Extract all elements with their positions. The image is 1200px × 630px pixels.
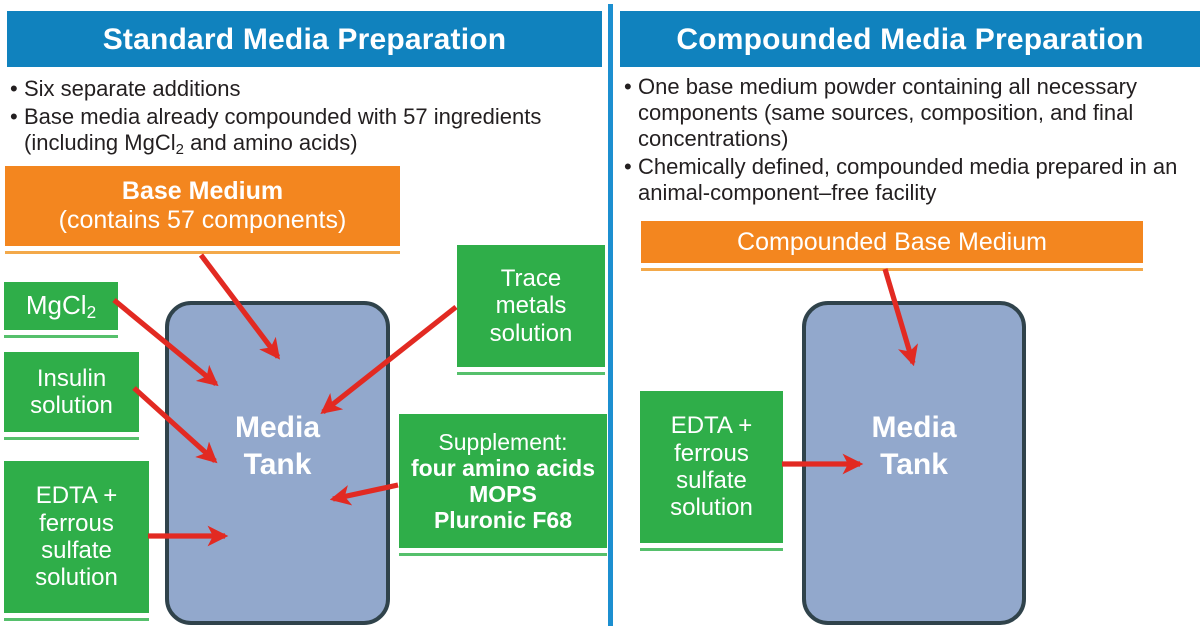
left-media-tank-line-1: Media bbox=[235, 410, 320, 447]
left-input-supplement-box: Supplement: four amino acids MOPS Pluron… bbox=[399, 414, 607, 548]
left-media-tank-line-2: Tank bbox=[235, 447, 320, 484]
left-base-medium-underline bbox=[5, 251, 400, 254]
left-input-mgcl2-underline bbox=[4, 335, 118, 338]
right-base-medium-underline bbox=[641, 268, 1143, 271]
left-input-supplement-line-1: Supplement: bbox=[438, 429, 567, 455]
right-base-medium-box: Compounded Base Medium bbox=[641, 221, 1143, 263]
list-item-label: Chemically defined, compounded media pre… bbox=[638, 154, 1184, 206]
subscript-2: 2 bbox=[87, 302, 97, 322]
left-input-edta-line-4: solution bbox=[35, 564, 118, 591]
list-item: • Chemically defined, compounded media p… bbox=[624, 154, 1184, 206]
left-input-edta-line-3: sulfate bbox=[41, 537, 112, 564]
list-item-label-post: and amino acids) bbox=[184, 130, 358, 155]
media-preparation-comparison-figure: Standard Media Preparation • Six separat… bbox=[0, 0, 1200, 630]
bullet-icon: • bbox=[10, 76, 24, 102]
left-input-supplement-line-2: four amino acids bbox=[411, 455, 595, 481]
left-input-edta-line-1: EDTA + bbox=[36, 482, 118, 509]
right-media-tank: Media Tank bbox=[802, 301, 1026, 625]
list-item-label: Base media already compounded with 57 in… bbox=[24, 104, 590, 156]
left-input-insulin-line-2: solution bbox=[30, 392, 113, 419]
list-item: • Base media already compounded with 57 … bbox=[10, 104, 590, 156]
left-input-edta-box: EDTA + ferrous sulfate solution bbox=[4, 461, 149, 613]
left-input-trace-metals-line-3: solution bbox=[490, 320, 573, 347]
right-panel-header-label: Compounded Media Preparation bbox=[676, 23, 1143, 56]
right-media-tank-line-2: Tank bbox=[871, 447, 956, 484]
left-input-mgcl2-box: MgCl2 bbox=[4, 282, 118, 330]
subscript-2: 2 bbox=[176, 141, 184, 158]
list-item-label: One base medium powder containing all ne… bbox=[638, 74, 1184, 152]
left-base-medium-title: Base Medium bbox=[122, 177, 283, 206]
left-input-supplement-underline bbox=[399, 553, 607, 556]
right-media-tank-label: Media Tank bbox=[871, 410, 956, 483]
left-input-supplement-line-3: MOPS bbox=[469, 481, 537, 507]
left-input-supplement-line-4: Pluronic F68 bbox=[434, 507, 572, 533]
list-item: • Six separate additions bbox=[10, 76, 590, 102]
left-input-insulin-underline bbox=[4, 437, 139, 440]
left-panel-bullet-list: • Six separate additions • Base media al… bbox=[10, 76, 590, 158]
right-input-edta-line-4: solution bbox=[670, 494, 753, 521]
left-media-tank: Media Tank bbox=[165, 301, 390, 625]
bullet-icon: • bbox=[624, 154, 638, 180]
left-panel-header: Standard Media Preparation bbox=[7, 11, 602, 67]
panel-divider bbox=[608, 4, 613, 626]
list-item-label: Six separate additions bbox=[24, 76, 590, 102]
left-input-edta-underline bbox=[4, 618, 149, 621]
left-input-trace-metals-underline bbox=[457, 372, 605, 375]
bullet-icon: • bbox=[624, 74, 638, 100]
left-panel-header-label: Standard Media Preparation bbox=[103, 23, 507, 56]
right-input-edta-line-1: EDTA + bbox=[671, 412, 753, 439]
right-panel-header: Compounded Media Preparation bbox=[620, 11, 1200, 67]
left-input-trace-metals-box: Trace metals solution bbox=[457, 245, 605, 367]
left-input-mgcl2-label-text: MgCl bbox=[26, 290, 87, 320]
right-input-edta-box: EDTA + ferrous sulfate solution bbox=[640, 391, 783, 543]
right-input-edta-line-3: sulfate bbox=[676, 467, 747, 494]
right-input-edta-line-2: ferrous bbox=[674, 440, 749, 467]
right-media-tank-line-1: Media bbox=[871, 410, 956, 447]
right-input-edta-underline bbox=[640, 548, 783, 551]
bullet-icon: • bbox=[10, 104, 24, 130]
left-input-trace-metals-line-1: Trace bbox=[501, 265, 561, 292]
right-base-medium-title: Compounded Base Medium bbox=[737, 228, 1047, 257]
left-base-medium-subtitle: (contains 57 components) bbox=[59, 206, 347, 235]
left-input-edta-line-2: ferrous bbox=[39, 510, 114, 537]
left-input-mgcl2-label: MgCl2 bbox=[26, 291, 96, 321]
left-input-trace-metals-line-2: metals bbox=[496, 292, 567, 319]
list-item: • One base medium powder containing all … bbox=[624, 74, 1184, 152]
left-input-insulin-line-1: Insulin bbox=[37, 365, 106, 392]
left-input-insulin-box: Insulin solution bbox=[4, 352, 139, 432]
left-media-tank-label: Media Tank bbox=[235, 410, 320, 483]
left-base-medium-box: Base Medium (contains 57 components) bbox=[5, 166, 400, 246]
right-panel-bullet-list: • One base medium powder containing all … bbox=[624, 74, 1184, 208]
